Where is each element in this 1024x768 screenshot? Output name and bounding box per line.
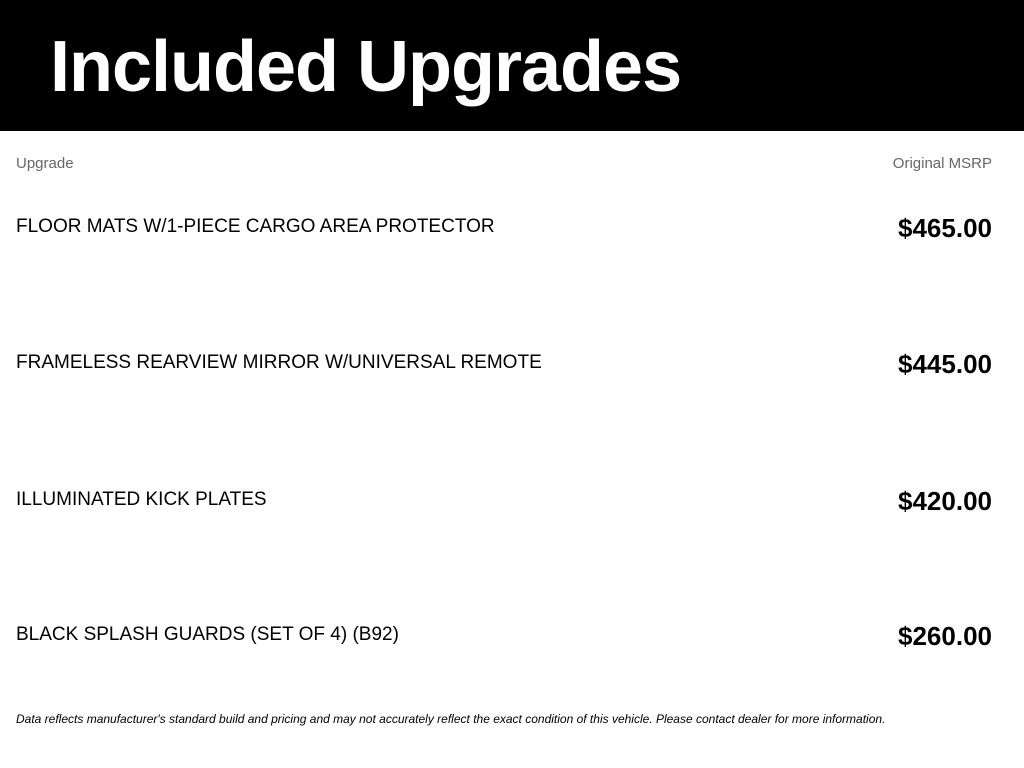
upgrade-price: $420.00 [874,488,992,514]
header-banner: Included Upgrades [0,0,1024,131]
upgrade-price: $260.00 [874,623,992,649]
included-upgrades-page: Included Upgrades Upgrade Original MSRP … [0,0,1024,768]
upgrade-price: $465.00 [874,215,992,241]
upgrade-price: $445.00 [874,351,992,377]
column-header-upgrade: Upgrade [16,155,74,173]
upgrades-table: Upgrade Original MSRP FLOOR MATS W/1-PIE… [0,131,1024,737]
table-row: ILLUMINATED KICK PLATES $420.00 [16,465,992,601]
page-title: Included Upgrades [50,26,681,108]
table-header-row: Upgrade Original MSRP [16,131,992,193]
upgrade-name: ILLUMINATED KICK PLATES [16,488,267,511]
table-row: FRAMELESS REARVIEW MIRROR W/UNIVERSAL RE… [16,329,992,465]
disclaimer-text: Data reflects manufacturer's standard bu… [16,711,996,727]
upgrade-name: BLACK SPLASH GUARDS (SET OF 4) (B92) [16,623,399,646]
table-row: FLOOR MATS W/1-PIECE CARGO AREA PROTECTO… [16,193,992,329]
upgrade-name: FRAMELESS REARVIEW MIRROR W/UNIVERSAL RE… [16,351,542,374]
upgrade-name: FLOOR MATS W/1-PIECE CARGO AREA PROTECTO… [16,215,495,238]
column-header-original-msrp: Original MSRP [893,155,992,173]
